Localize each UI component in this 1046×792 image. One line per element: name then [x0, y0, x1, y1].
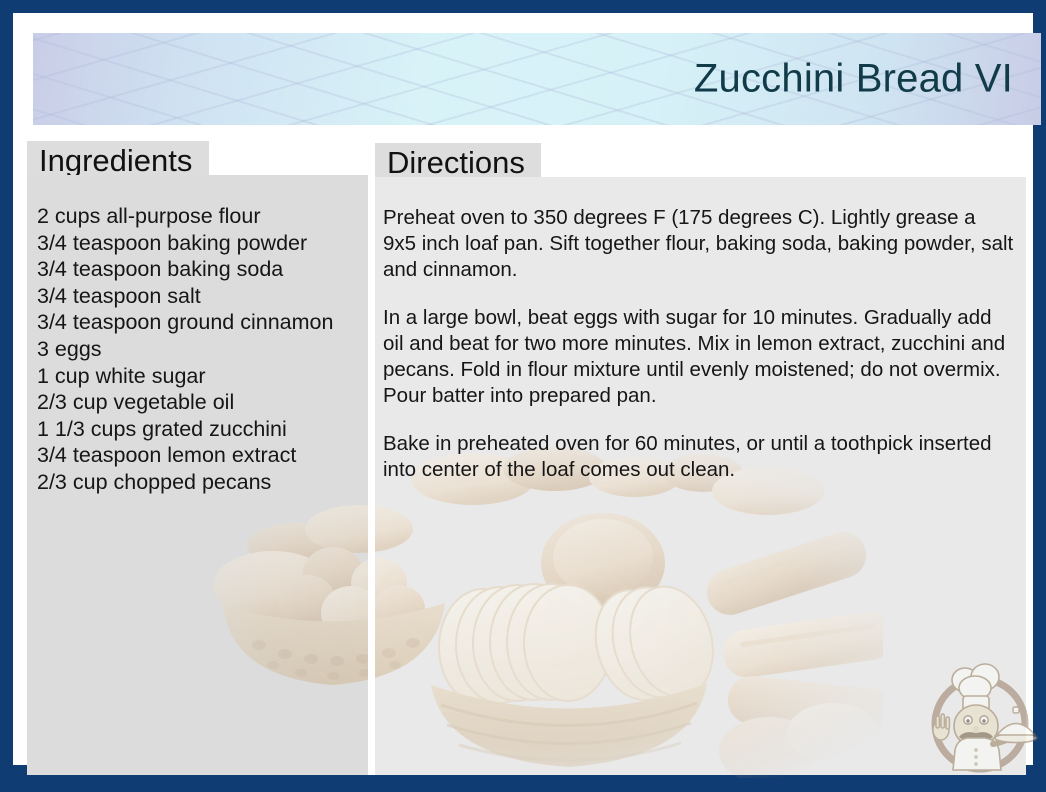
ingredient-item: 3/4 teaspoon ground cinnamon: [37, 309, 354, 336]
recipe-card: Zucchini Bread VI: [0, 0, 1046, 792]
direction-paragraph: In a large bowl, beat eggs with sugar fo…: [383, 305, 1014, 409]
ingredient-item: 1 cup white sugar: [37, 363, 354, 390]
direction-paragraph: Bake in preheated oven for 60 minutes, o…: [383, 431, 1014, 483]
ingredient-item: 1 1/3 cups grated zucchini: [37, 416, 354, 443]
ingredient-item: 2 cups all-purpose flour: [37, 203, 354, 230]
header-banner: Zucchini Bread VI: [33, 33, 1041, 125]
panel-divider: [368, 175, 375, 775]
ingredient-item: 2/3 cup chopped pecans: [37, 469, 354, 496]
ingredient-item: 3/4 teaspoon salt: [37, 283, 354, 310]
ingredient-item: 3 eggs: [37, 336, 354, 363]
card-inner-frame: Zucchini Bread VI: [13, 13, 1033, 765]
page-title: Zucchini Bread VI: [694, 57, 1013, 102]
direction-paragraph: Preheat oven to 350 degrees F (175 degre…: [383, 205, 1014, 283]
directions-panel: Preheat oven to 350 degrees F (175 degre…: [375, 177, 1026, 775]
ingredient-item: 3/4 teaspoon lemon extract: [37, 442, 354, 469]
ingredient-item: 3/4 teaspoon baking soda: [37, 256, 354, 283]
ingredient-item: 3/4 teaspoon baking powder: [37, 230, 354, 257]
ingredients-panel: 2 cups all-purpose flour 3/4 teaspoon ba…: [27, 175, 368, 775]
ingredient-item: 2/3 cup vegetable oil: [37, 389, 354, 416]
